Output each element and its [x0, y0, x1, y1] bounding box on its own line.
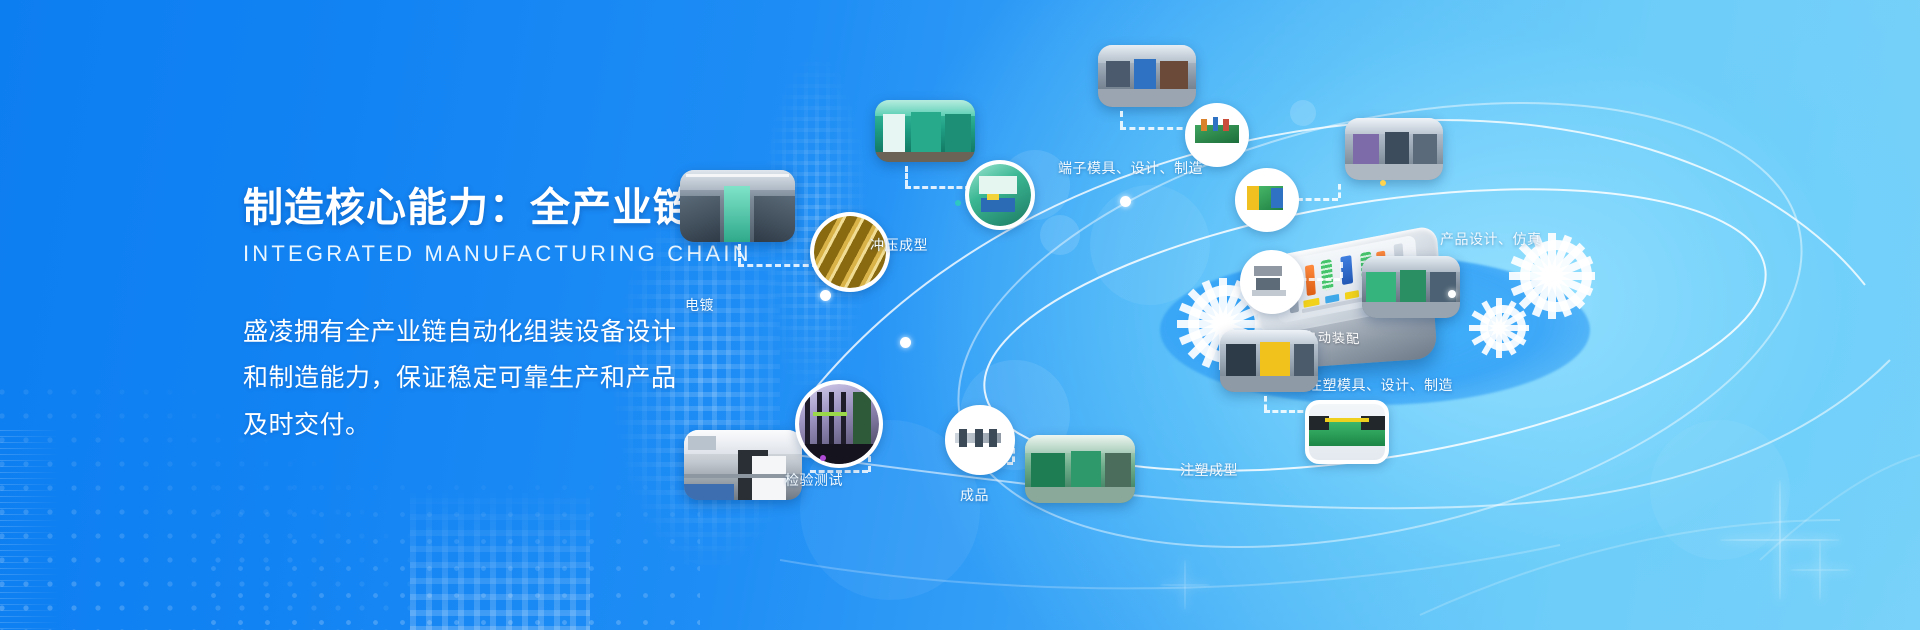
connector-electroplating: [738, 264, 818, 267]
node-label-electroplating: 电镀: [685, 295, 714, 315]
node-photo-injection-mold[interactable]: [1362, 256, 1460, 318]
dot-matrix-pattern-bottom-center: [200, 420, 700, 630]
connector-injection-mold-vertical: [1340, 262, 1343, 278]
page-subtitle: INTEGRATED MANUFACTURING CHAIN: [243, 241, 703, 267]
page-title: 制造核心能力：全产业链: [243, 185, 703, 231]
connector-electroplating-vertical: [738, 244, 741, 264]
accent-dot: [820, 455, 826, 461]
banner-copy: 制造核心能力：全产业链 INTEGRATED MANUFACTURING CHA…: [243, 185, 703, 448]
connector-terminal-mold: [1120, 127, 1192, 130]
orbit-marker-dot: [1448, 290, 1456, 298]
accent-dot: [955, 200, 961, 206]
connector-product-design-vertical: [1338, 184, 1341, 198]
node-label-inspection-test: 检验测试: [785, 470, 843, 490]
connector-stamping-vertical: [905, 166, 908, 186]
banner-description: 盛凌拥有全产业链自动化组装设备设计和制造能力，保证稳定可靠生产和产品及时交付。: [243, 309, 681, 448]
connector-injection-molding-vertical: [1264, 396, 1267, 410]
orbit-marker-dot: [820, 290, 831, 301]
node-circle-finished-product[interactable]: [945, 405, 1015, 475]
node-label-product-design: 产品设计、仿真: [1440, 229, 1542, 249]
line-pattern-left: [0, 430, 60, 630]
connector-stamping: [905, 186, 971, 189]
node-photo-stamping[interactable]: [875, 100, 975, 162]
orbit-marker-dot: [900, 337, 911, 348]
node-circle-stamping[interactable]: [965, 160, 1035, 230]
orbit-marker-dot: [1120, 196, 1131, 207]
node-photo-terminal-mold[interactable]: [1098, 45, 1196, 107]
square-grid-pattern-lower: [410, 450, 590, 630]
manufacturing-chain-banner: 制造核心能力：全产业链 INTEGRATED MANUFACTURING CHA…: [0, 0, 1920, 630]
node-circle-product-design[interactable]: [1235, 168, 1299, 232]
node-label-terminal-mold: 端子模具、设计、制造: [1058, 158, 1203, 178]
node-photo-finished-product[interactable]: [1025, 435, 1135, 503]
accent-dot: [1380, 180, 1386, 186]
node-label-injection-molding: 注塑成型: [1180, 460, 1238, 480]
node-label-finished-product: 成品: [960, 485, 989, 505]
node-label-stamping: 冲压成型: [870, 235, 928, 255]
node-photo-product-design[interactable]: [1345, 118, 1443, 180]
node-circle-injection-molding[interactable]: [1305, 400, 1389, 464]
node-photo-injection-molding[interactable]: [1220, 330, 1318, 392]
node-circle-injection-mold[interactable]: [1240, 250, 1304, 314]
gear-icon: [1520, 240, 1592, 312]
node-photo-electroplating[interactable]: [680, 170, 795, 242]
node-circle-inspection-test[interactable]: [795, 380, 883, 468]
gear-icon: [1480, 305, 1526, 351]
connector-terminal-mold-vertical: [1120, 111, 1123, 127]
process-chain-diagram: 自动装配 电镀: [780, 0, 1920, 630]
node-label-injection-mold: 注塑模具、设计、制造: [1308, 375, 1453, 395]
